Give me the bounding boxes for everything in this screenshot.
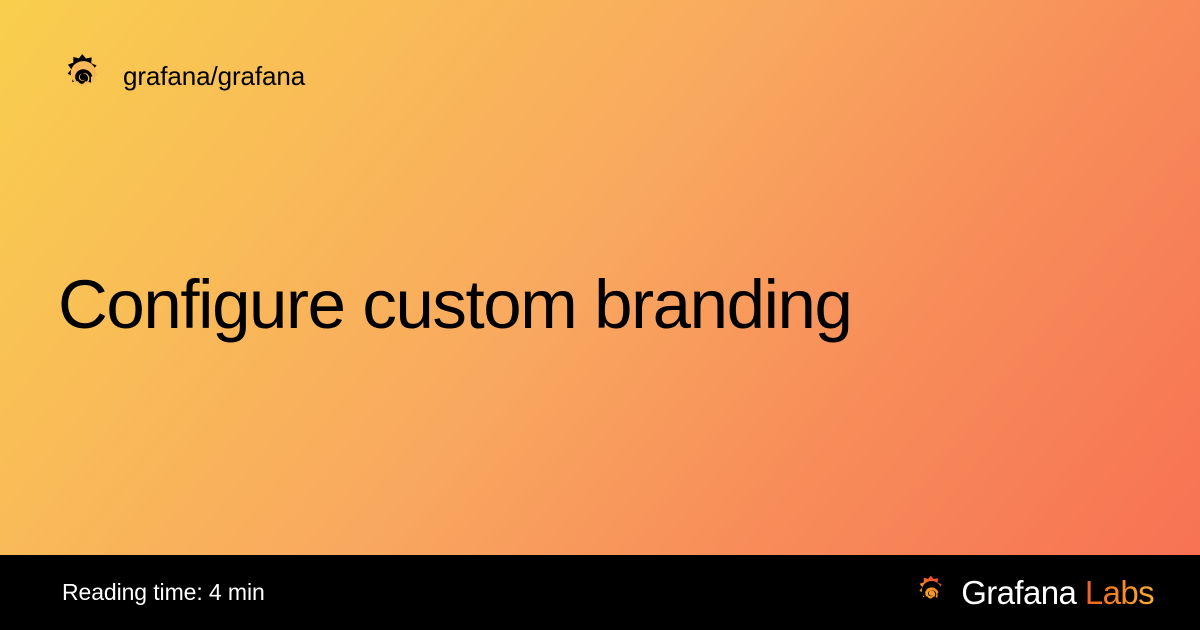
- grafana-labs-wordmark: Grafana Labs: [961, 576, 1154, 609]
- open-graph-card: grafana/grafana Configure custom brandin…: [0, 0, 1200, 630]
- repo-header: grafana/grafana: [58, 48, 305, 104]
- grafana-logo-icon: [58, 52, 106, 100]
- page-title: Configure custom branding: [58, 268, 1148, 343]
- brand-word-labs: Labs: [1085, 574, 1154, 611]
- brand-word-grafana: Grafana: [961, 574, 1076, 611]
- footer-bar: Reading time: 4 min Grafana Labs: [0, 555, 1200, 630]
- grafana-labs-brand-lockup: Grafana Labs: [912, 574, 1154, 611]
- reading-time-label: Reading time: 4 min: [62, 579, 265, 606]
- grafana-labs-logo-icon: [912, 574, 949, 611]
- repo-name-label: grafana/grafana: [123, 63, 305, 89]
